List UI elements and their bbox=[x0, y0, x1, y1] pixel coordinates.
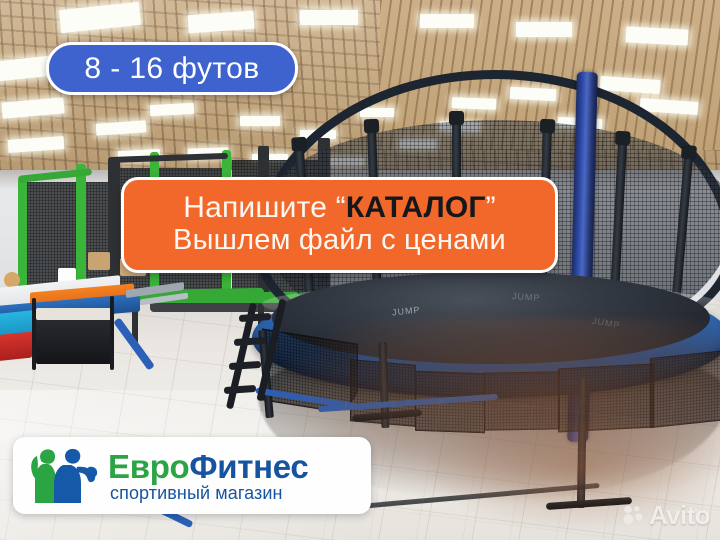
cta-banner: Напишите “КАТАЛОГ” Вышлем файл с ценами bbox=[121, 177, 558, 273]
cta-line-1: Напишите “КАТАЛОГ” bbox=[183, 192, 496, 224]
cta-quote-open: “ bbox=[336, 191, 346, 224]
game-table-rail bbox=[36, 308, 114, 320]
game-table-black bbox=[36, 316, 114, 364]
ceiling-light bbox=[516, 22, 572, 37]
avito-dots-icon bbox=[623, 504, 645, 526]
brand-name: ЕвроФитнес bbox=[108, 450, 308, 483]
cta-keyword: КАТАЛОГ bbox=[346, 191, 486, 224]
avito-watermark: Avito bbox=[623, 502, 710, 528]
cardboard-box bbox=[88, 252, 110, 270]
mat-print: JUMP bbox=[392, 305, 421, 318]
brand-logo-panel: ЕвроФитнес спортивный магазин bbox=[13, 437, 371, 514]
ad-image: JUMP JUMP JUMP bbox=[0, 0, 720, 540]
brand-logo-text: ЕвроФитнес спортивный магазин bbox=[108, 450, 308, 502]
cta-prefix: Напишите bbox=[183, 191, 335, 224]
ceiling-light bbox=[420, 14, 474, 28]
size-badge: 8 - 16 футов bbox=[46, 42, 298, 95]
mat-print: JUMP bbox=[512, 291, 541, 303]
ceiling-light bbox=[240, 116, 280, 126]
two-athletes-silhouette-icon bbox=[25, 447, 99, 505]
brand-tagline: спортивный магазин bbox=[108, 484, 308, 502]
table-leg bbox=[110, 296, 114, 370]
cta-line-2: Вышлем файл с ценами bbox=[173, 224, 506, 256]
size-badge-label: 8 - 16 футов bbox=[84, 54, 259, 84]
ceiling-light bbox=[150, 103, 195, 116]
game-table-red bbox=[0, 331, 32, 362]
brand-name-part1: Евро bbox=[108, 448, 189, 485]
avito-watermark-text: Avito bbox=[649, 502, 710, 528]
table-leg bbox=[32, 298, 36, 370]
cta-quote-close: ” bbox=[486, 191, 496, 224]
ceiling-light bbox=[300, 10, 358, 25]
ceiling-light bbox=[626, 26, 689, 45]
brand-name-part2: Фитнес bbox=[189, 448, 308, 485]
